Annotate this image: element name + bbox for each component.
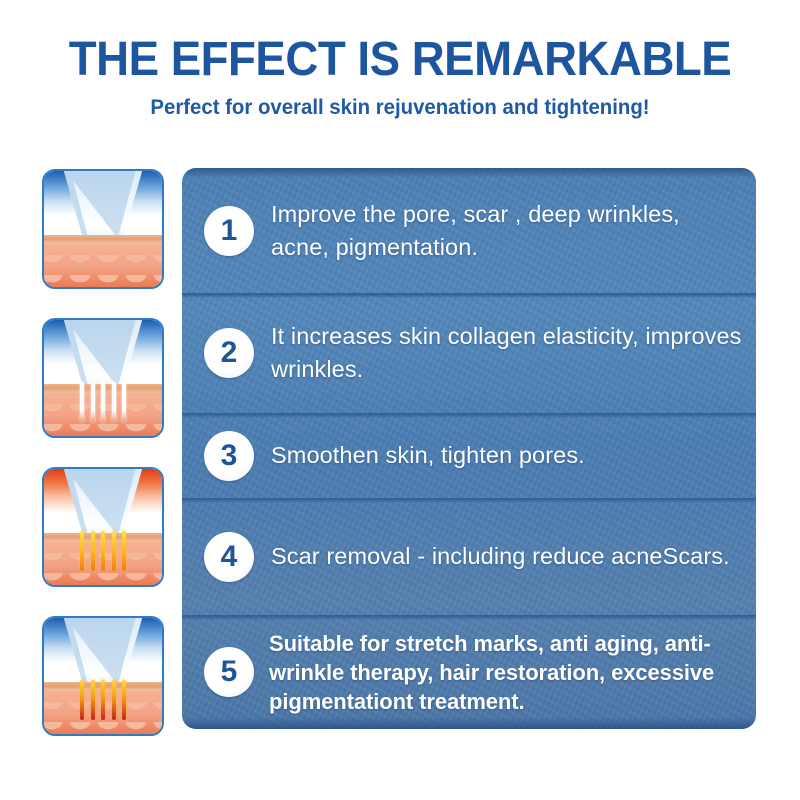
dermis-wave-icon <box>42 424 164 438</box>
dermis-wave-icon <box>42 722 164 736</box>
page-subtitle: Perfect for overall skin rejuvenation an… <box>12 86 788 120</box>
list-item: 5 Suitable for stretch marks, anti aging… <box>182 615 756 729</box>
list-item-number-badge: 3 <box>204 431 254 481</box>
list-item-text: It increases skin collagen elasticity, i… <box>271 320 742 386</box>
microneedle-array-icon <box>80 680 126 720</box>
dermis-wave-icon <box>42 573 164 587</box>
skin-diagram-deep-thermal-needles <box>42 616 164 736</box>
skin-cross-section <box>44 235 162 287</box>
list-item-text: Scar removal - including reduce acneScar… <box>271 540 730 573</box>
skin-diagram-column <box>42 169 164 736</box>
page-title: THE EFFECT IS REMARKABLE <box>20 0 780 86</box>
list-item-number-badge: 1 <box>204 206 254 256</box>
poster-root: THE EFFECT IS REMARKABLE Perfect for ove… <box>0 0 800 800</box>
benefits-panel: 1 Improve the pore, scar , deep wrinkles… <box>182 168 756 729</box>
microneedle-array-icon <box>80 382 126 422</box>
skin-diagram-white-microneedles <box>42 318 164 438</box>
list-item: 2 It increases skin collagen elasticity,… <box>182 293 756 413</box>
header: THE EFFECT IS REMARKABLE Perfect for ove… <box>0 0 800 120</box>
list-item-text: Suitable for stretch marks, anti aging, … <box>269 629 742 716</box>
list-item-number-badge: 2 <box>204 328 254 378</box>
list-item: 1 Improve the pore, scar , deep wrinkles… <box>182 168 756 293</box>
skin-diagram-handpiece-above-skin <box>42 169 164 289</box>
dermis-wave-icon <box>42 255 164 270</box>
list-item-text: Smoothen skin, tighten pores. <box>271 439 585 472</box>
list-item: 3 Smoothen skin, tighten pores. <box>182 413 756 498</box>
list-item: 4 Scar removal - including reduce acneSc… <box>182 498 756 615</box>
microneedle-array-icon <box>80 531 126 571</box>
list-item-text: Improve the pore, scar , deep wrinkles, … <box>271 198 742 264</box>
skin-diagram-heated-gold-needles <box>42 467 164 587</box>
list-item-number-badge: 5 <box>204 647 254 697</box>
list-item-number-badge: 4 <box>204 532 254 582</box>
epidermis-layer-icon <box>44 235 162 244</box>
dermis-wave-icon <box>42 275 164 289</box>
